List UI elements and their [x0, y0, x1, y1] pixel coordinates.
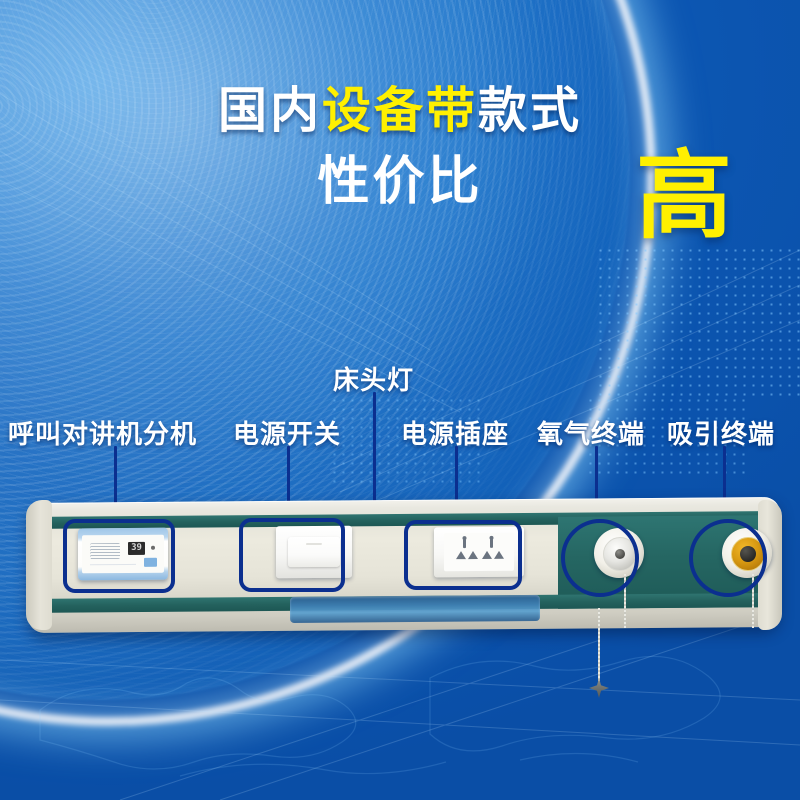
pull-cord-line[interactable]	[598, 608, 600, 686]
highlight-box-power-switch	[239, 518, 345, 592]
callout-label-suction: 吸引终端	[667, 414, 775, 451]
headline-segment-plain-1: 国内	[218, 82, 322, 139]
callout-label-oxygen: 氧气终端	[537, 414, 645, 451]
headline-segment-plain-2: 款式	[478, 82, 582, 139]
callout-label-intercom: 呼叫对讲机分机	[8, 414, 197, 451]
headline-segment-highlight: 设备带	[322, 82, 478, 139]
headline-block: 国内设备带款式 性价比	[0, 86, 800, 135]
dot-matrix-decor	[596, 246, 800, 396]
highlight-circle-oxygen	[561, 519, 639, 597]
headline-line-1: 国内设备带款式	[0, 86, 800, 135]
bed-head-lamp-diffuser[interactable]	[290, 595, 540, 623]
unit-end-cap-left	[26, 500, 52, 630]
poster-canvas: 国内设备带款式 性价比 高 呼叫对讲机分机 电源开关 床头灯 电源插座 氧气终端…	[0, 0, 800, 800]
headline-emphasis-word: 高	[636, 148, 732, 244]
highlight-circle-suction	[689, 519, 767, 597]
highlight-box-intercom	[63, 519, 175, 593]
highlight-box-power-socket	[404, 520, 522, 590]
